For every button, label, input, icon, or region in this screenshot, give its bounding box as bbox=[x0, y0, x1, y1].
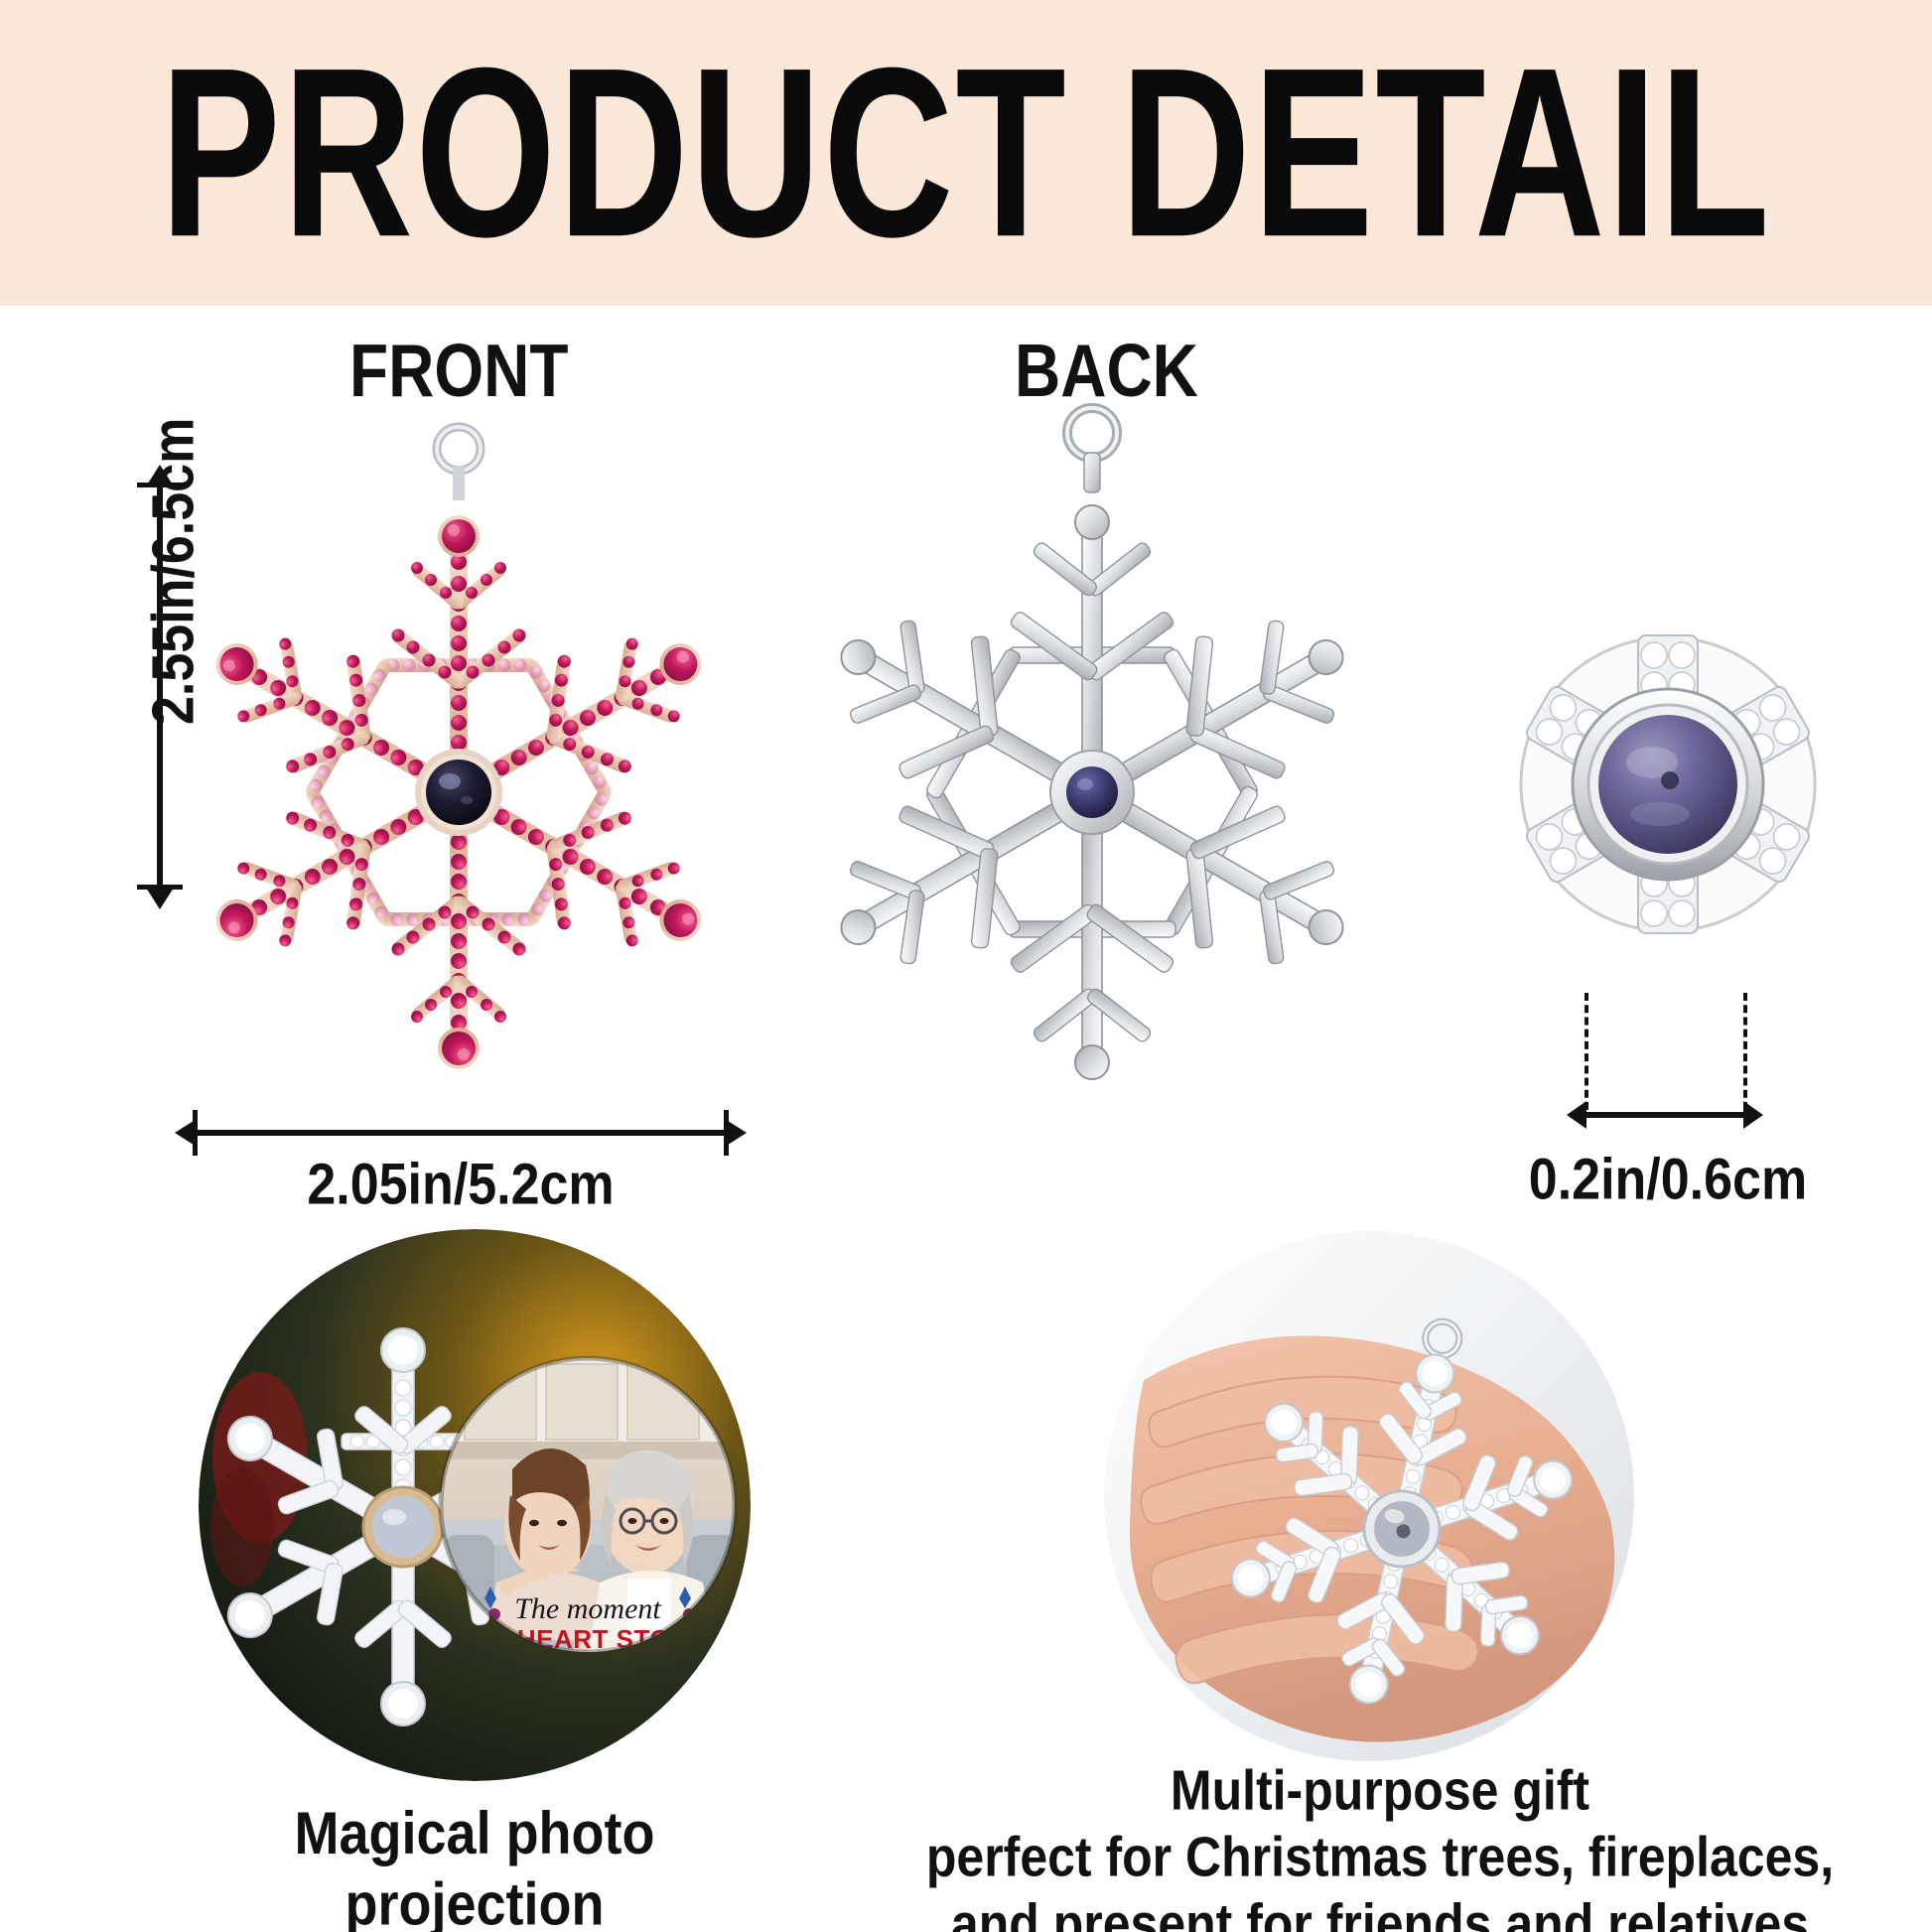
front-snowflake-body bbox=[185, 515, 733, 1069]
width-dimension-label: 2.05in/5.2cm bbox=[195, 1152, 727, 1218]
back-snowflake-image bbox=[794, 397, 1390, 1112]
back-projection-lens bbox=[1050, 751, 1134, 834]
projection-caption-line2: projection bbox=[189, 1869, 760, 1932]
front-hang-loop bbox=[437, 427, 481, 471]
multipurpose-caption-line1: Multi-purpose gift bbox=[854, 1757, 1906, 1824]
projection-demo-photo: The moment YOUR HEART STOPPED Mine chang… bbox=[199, 1229, 751, 1781]
front-view-label: FRONT bbox=[349, 327, 568, 413]
front-snowflake-image bbox=[181, 417, 737, 1092]
lens-closeup-body bbox=[1521, 635, 1815, 933]
lens-dim-leader-right bbox=[1743, 993, 1747, 1110]
page-title: PRODUCT DETAIL bbox=[160, 45, 1771, 262]
height-dimension-label: 2.55in/6.5cm bbox=[140, 437, 208, 725]
projection-caption: Magical photo projection bbox=[189, 1799, 760, 1932]
product-detail-page: PRODUCT DETAIL FRONT BACK bbox=[0, 0, 1932, 1932]
back-hang-loop bbox=[1067, 408, 1117, 458]
width-dimension-arrow bbox=[195, 1130, 727, 1136]
multipurpose-caption-line3: and present for friends and relatives bbox=[854, 1891, 1906, 1932]
lens-dimension-arrow bbox=[1585, 1112, 1745, 1118]
lens-dim-leader-left bbox=[1585, 993, 1588, 1110]
header-band: PRODUCT DETAIL bbox=[0, 0, 1932, 306]
projection-lens-closeup-image bbox=[1469, 586, 1866, 983]
crystal-snowflake-lens bbox=[363, 1487, 443, 1567]
multipurpose-caption-line2: perfect for Christmas trees, fireplaces, bbox=[854, 1824, 1906, 1890]
snowflake-in-hand-photo bbox=[1104, 1231, 1634, 1761]
lens-dimension-label: 0.2in/0.6cm bbox=[1519, 1147, 1817, 1213]
back-snowflake-body bbox=[802, 505, 1382, 1079]
multipurpose-caption: Multi-purpose gift perfect for Christmas… bbox=[854, 1757, 1906, 1932]
svg-text:The moment: The moment bbox=[514, 1592, 661, 1625]
front-projection-lens bbox=[415, 749, 502, 836]
projection-caption-line1: Magical photo bbox=[189, 1799, 760, 1869]
